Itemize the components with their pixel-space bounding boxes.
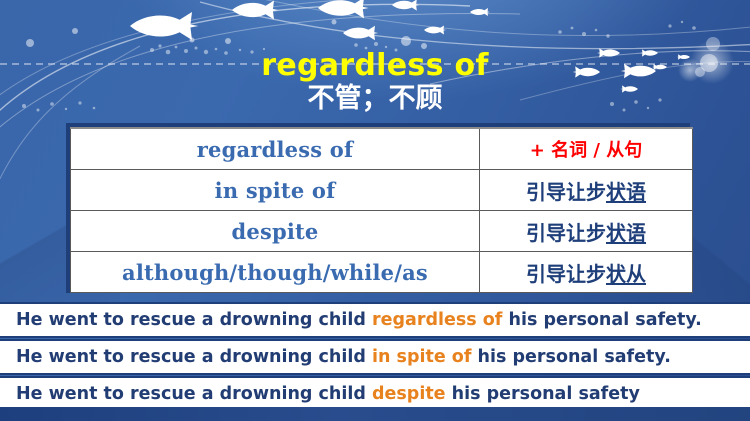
usage-label: 引导让步状语 bbox=[526, 180, 646, 204]
expression-label: in spite of bbox=[215, 178, 336, 203]
sentence-bar: He went to rescue a drowning child in sp… bbox=[0, 339, 750, 375]
usage-label: 引导让步状语 bbox=[526, 221, 646, 245]
expression-label: although/though/while/as bbox=[122, 260, 428, 285]
usage-plain: 引导让步 bbox=[526, 262, 606, 286]
sentence-after: his personal safety. bbox=[502, 310, 701, 330]
table-cell-expression: although/though/while/as bbox=[71, 252, 480, 293]
sentence-before: He went to rescue a drowning child bbox=[16, 347, 372, 367]
table-cell-usage: 引导让步状语 bbox=[480, 170, 693, 211]
usage-underlined: 状语 bbox=[606, 221, 646, 245]
sentence-after: his personal safety. bbox=[471, 347, 670, 367]
expression-label: regardless of bbox=[197, 137, 353, 162]
table-cell-expression: in spite of bbox=[71, 170, 480, 211]
sentence-text: He went to rescue a drowning child regar… bbox=[16, 310, 702, 330]
table-row: regardless of + 名词 / 从句 bbox=[71, 128, 693, 170]
table-cell-usage: 引导让步状从 bbox=[480, 252, 693, 293]
table-cell-expression: despite bbox=[71, 211, 480, 252]
usage-plain: 引导让步 bbox=[526, 180, 606, 204]
table-cell-usage: 引导让步状语 bbox=[480, 211, 693, 252]
table-row: despite 引导让步状语 bbox=[71, 211, 693, 252]
slide-canvas: regardless of 不管；不顾 regardless of + 名词 /… bbox=[0, 0, 750, 421]
bottom-accent-band bbox=[0, 407, 750, 421]
sentence-highlight: in spite of bbox=[372, 347, 471, 367]
usage-label: 引导让步状从 bbox=[526, 262, 646, 286]
table-row: although/though/while/as 引导让步状从 bbox=[71, 252, 693, 293]
sentence-highlight: regardless of bbox=[372, 310, 502, 330]
comparison-table: regardless of + 名词 / 从句 in spite of 引导让步… bbox=[66, 123, 690, 293]
sentence-before: He went to rescue a drowning child bbox=[16, 310, 372, 330]
usage-label: + 名词 / 从句 bbox=[530, 140, 642, 161]
sentence-bar: He went to rescue a drowning child regar… bbox=[0, 302, 750, 338]
slide-title-block: regardless of 不管；不顾 bbox=[0, 50, 750, 114]
sentence-after: his personal safety bbox=[446, 384, 640, 404]
page-title-english: regardless of bbox=[0, 50, 750, 82]
usage-plain: 引导让步 bbox=[526, 221, 606, 245]
table-row: in spite of 引导让步状语 bbox=[71, 170, 693, 211]
expression-label: despite bbox=[232, 219, 319, 244]
page-title-chinese: 不管；不顾 bbox=[0, 83, 750, 114]
sentence-text: He went to rescue a drowning child despi… bbox=[16, 384, 640, 404]
table-cell-expression: regardless of bbox=[71, 128, 480, 170]
usage-underlined: 状语 bbox=[606, 180, 646, 204]
sentence-highlight: despite bbox=[372, 384, 446, 404]
usage-underlined: 状从 bbox=[606, 262, 646, 286]
example-sentences: He went to rescue a drowning child regar… bbox=[0, 302, 750, 413]
sentence-text: He went to rescue a drowning child in sp… bbox=[16, 347, 671, 367]
sentence-before: He went to rescue a drowning child bbox=[16, 384, 372, 404]
table-cell-usage: + 名词 / 从句 bbox=[480, 128, 693, 170]
